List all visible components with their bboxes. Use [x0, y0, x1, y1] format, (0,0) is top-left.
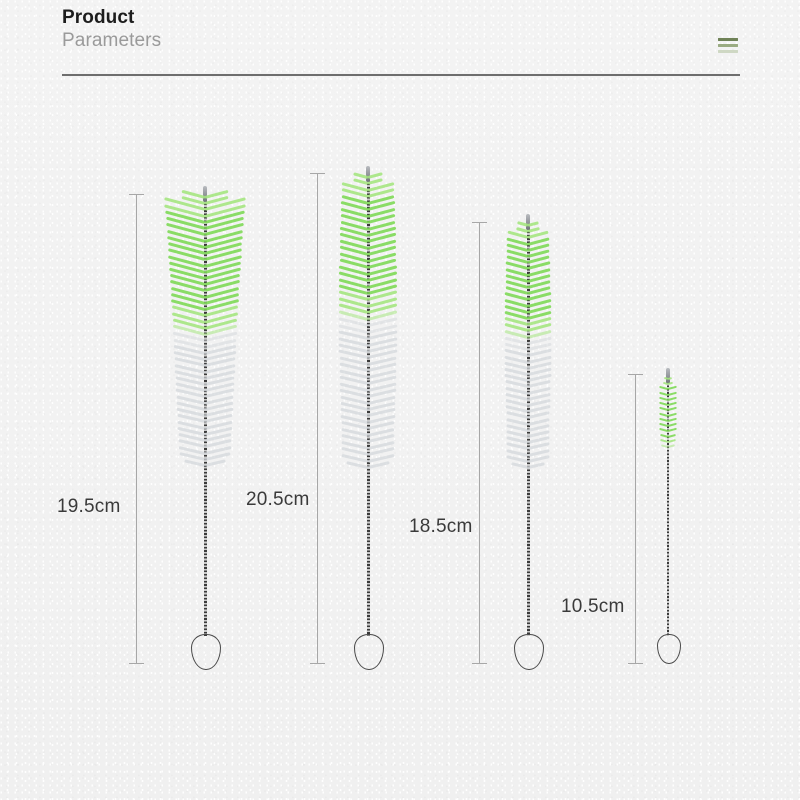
- header-divider: [62, 74, 740, 76]
- bottle-brush-medium: [458, 84, 598, 800]
- product-parameters-page: Product Parameters 19.5cm20.5cm18.5cm10.…: [0, 0, 800, 800]
- page-title: Product: [62, 6, 161, 29]
- hamburger-line-2: [718, 44, 738, 47]
- page-subtitle: Parameters: [62, 29, 161, 53]
- brush-loop-handle: [514, 634, 544, 670]
- bottle-brush-tall: [298, 84, 438, 800]
- brush-tip: [666, 368, 670, 384]
- hamburger-menu-icon[interactable]: [718, 38, 738, 55]
- brush-tip: [526, 214, 530, 230]
- measurement-label: 19.5cm: [57, 496, 121, 518]
- brush-wire-shaft: [527, 228, 530, 636]
- brush-loop-handle: [354, 634, 384, 670]
- page-header: Product Parameters: [0, 0, 800, 84]
- straw-brush-small: [598, 84, 738, 800]
- hamburger-line-1: [718, 38, 738, 41]
- brush-wire-shaft: [204, 200, 207, 636]
- brush-tip: [203, 186, 207, 202]
- brush-loop-handle: [657, 634, 681, 664]
- brush-tip: [366, 166, 370, 182]
- hamburger-line-3: [718, 50, 738, 53]
- brush-wire-shaft: [667, 382, 669, 636]
- brush-loop-handle: [191, 634, 221, 670]
- product-illustration-stage: 19.5cm20.5cm18.5cm10.5cm: [0, 84, 800, 800]
- brush-wire-shaft: [367, 180, 370, 636]
- title-block: Product Parameters: [62, 6, 161, 53]
- bottle-brush-large: [135, 84, 275, 800]
